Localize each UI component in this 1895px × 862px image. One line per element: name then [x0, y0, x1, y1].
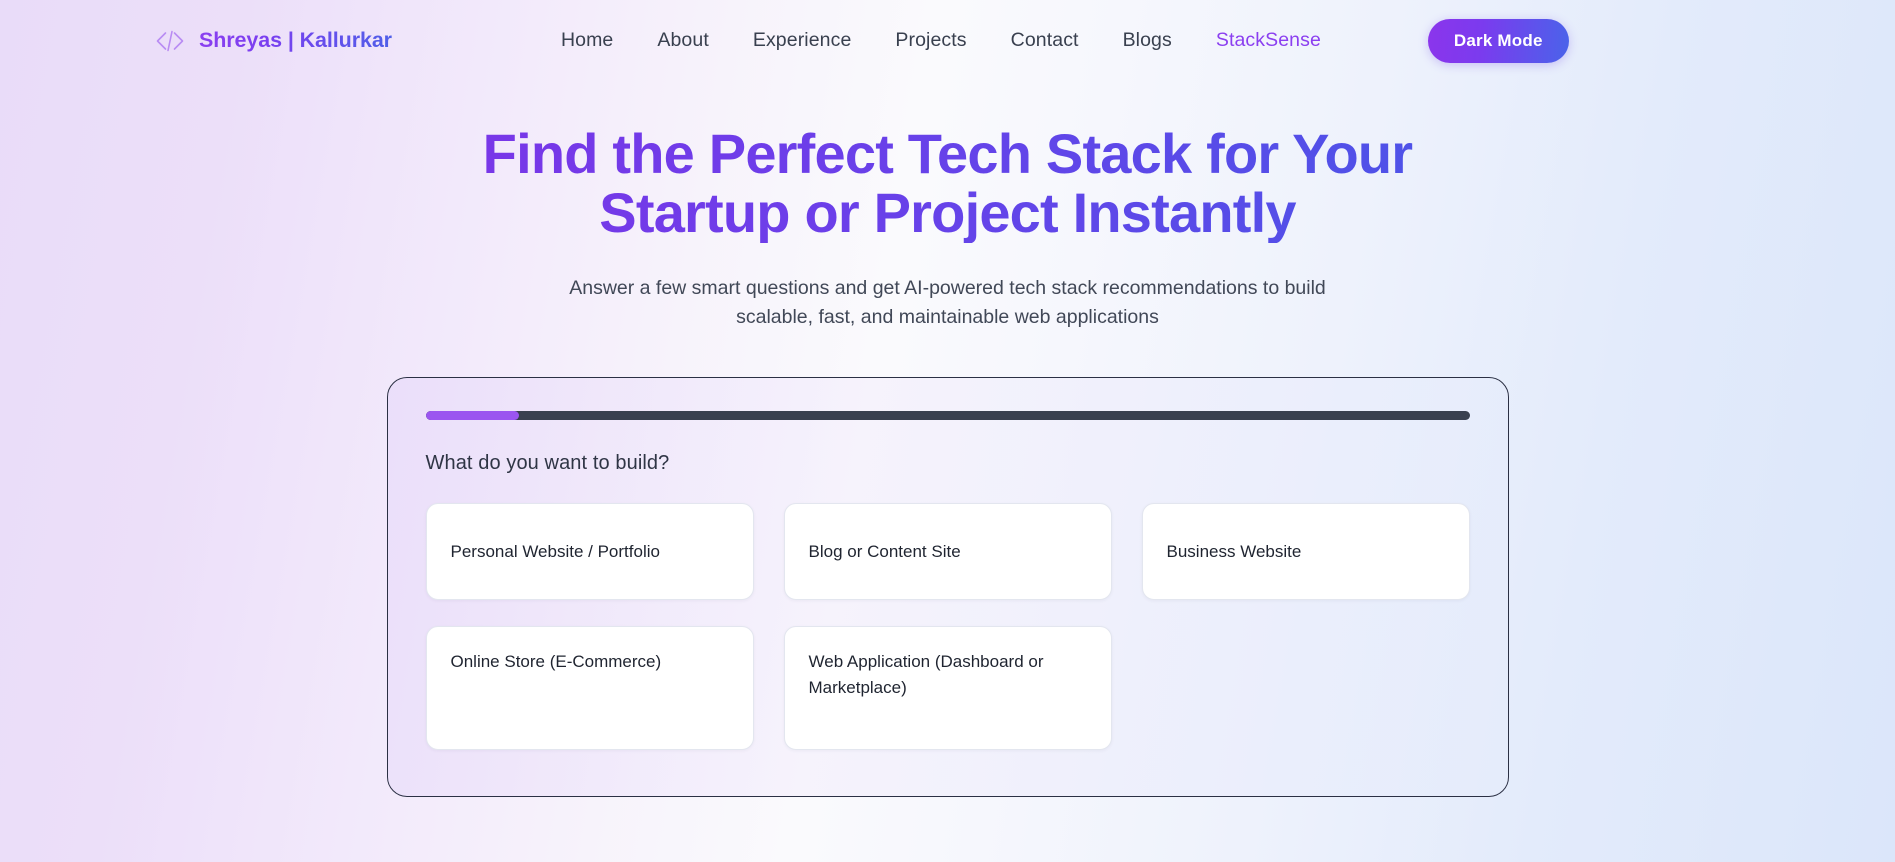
nav-links: Home About Experience Projects Contact B… [539, 23, 1343, 58]
nav-item-home[interactable]: Home [539, 23, 635, 58]
quiz-card: What do you want to build? Personal Webs… [387, 377, 1509, 797]
code-brackets-icon [155, 28, 185, 54]
quiz-option-web-application[interactable]: Web Application (Dashboard or Marketplac… [784, 626, 1112, 750]
page-title: Find the Perfect Tech Stack for Your Sta… [403, 125, 1493, 243]
quiz-question: What do you want to build? [426, 452, 1470, 475]
nav-item-stacksense[interactable]: StackSense [1194, 23, 1343, 58]
brand-name: Shreyas | Kallurkar [199, 28, 392, 53]
top-navigation-bar: Shreyas | Kallurkar Home About Experienc… [0, 0, 1895, 81]
quiz-progress-fill [426, 411, 520, 420]
nav-item-projects[interactable]: Projects [873, 23, 988, 58]
nav-item-contact[interactable]: Contact [989, 23, 1101, 58]
nav-item-blogs[interactable]: Blogs [1101, 23, 1194, 58]
quiz-progress-bar [426, 411, 1470, 420]
hero-section: Find the Perfect Tech Stack for Your Sta… [0, 81, 1895, 332]
quiz-option-blog-content-site[interactable]: Blog or Content Site [784, 503, 1112, 600]
hero-subtitle: Answer a few smart questions and get AI-… [548, 274, 1348, 333]
quiz-option-business-website[interactable]: Business Website [1142, 503, 1470, 600]
quiz-options-grid: Personal Website / Portfolio Blog or Con… [426, 503, 1470, 750]
nav-item-experience[interactable]: Experience [731, 23, 874, 58]
nav-item-about[interactable]: About [635, 23, 730, 58]
quiz-option-personal-website[interactable]: Personal Website / Portfolio [426, 503, 754, 600]
brand-logo[interactable]: Shreyas | Kallurkar [155, 28, 392, 54]
quiz-option-online-store[interactable]: Online Store (E-Commerce) [426, 626, 754, 750]
dark-mode-toggle-button[interactable]: Dark Mode [1428, 19, 1569, 63]
